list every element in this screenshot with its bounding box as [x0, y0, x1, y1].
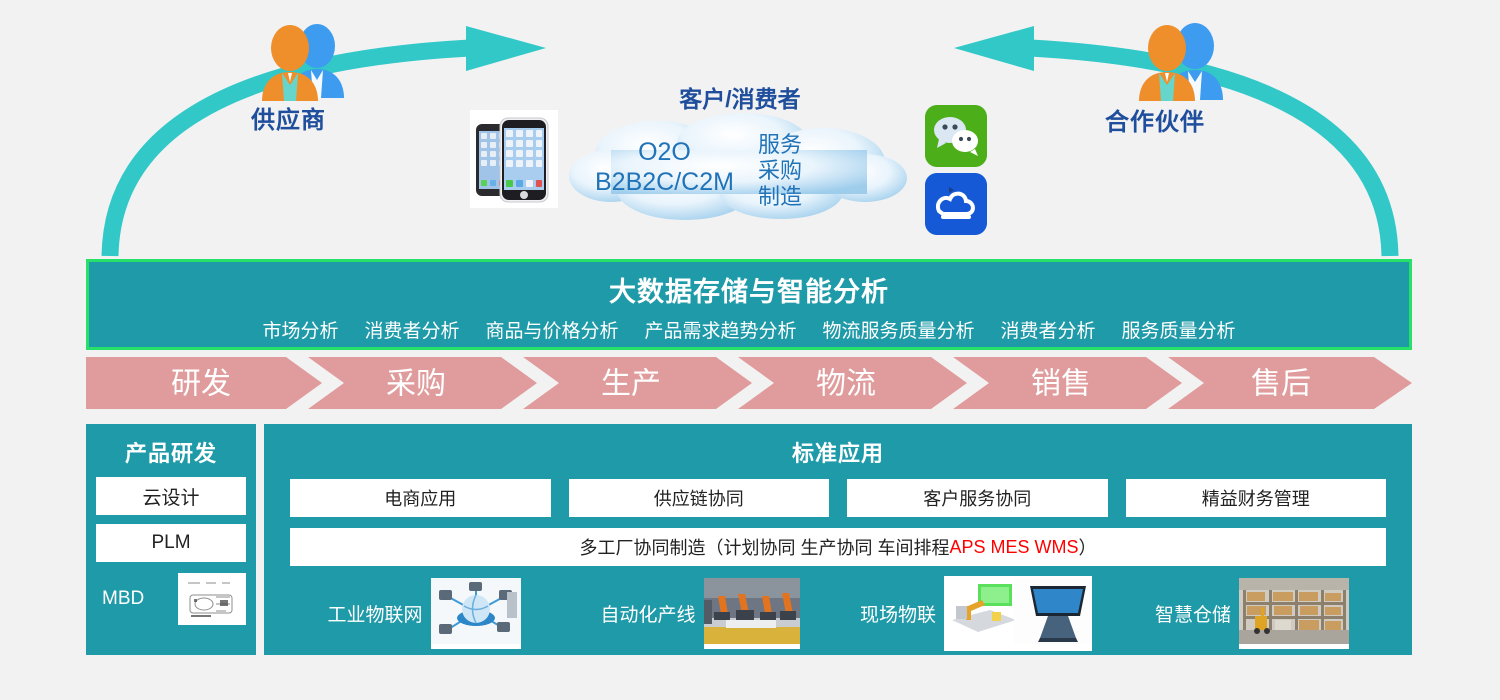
bigdata-tag: 市场分析 [262, 316, 338, 343]
diagram-canvas: 供应商 合作伙伴 [0, 0, 1500, 700]
iot-row: 工业物联网 [286, 578, 1390, 648]
iot-item-automation-line[interactable]: 自动化产线 [562, 578, 838, 649]
app-lean-finance[interactable]: 精益财务管理 [1126, 479, 1387, 517]
bigdata-tag-list: 市场分析 消费者分析 商品与价格分析 产品需求趋势分析 物流服务质量分析 消费者… [89, 316, 1409, 343]
robot-assembly-line-thumbnail [704, 578, 800, 649]
supplier-label: 供应商 [251, 100, 326, 135]
mfg-suffix-text: ） [1079, 534, 1097, 560]
bigdata-banner: 大数据存储与智能分析 市场分析 消费者分析 商品与价格分析 产品需求趋势分析 物… [86, 259, 1412, 350]
product-rd-panel: 产品研发 云设计 PLM MBD [86, 424, 256, 655]
rd-item-cloud-design[interactable]: 云设计 [96, 477, 246, 515]
bigdata-tag: 服务质量分析 [1122, 316, 1236, 343]
customer-title: 客户/消费者 [565, 80, 915, 114]
standard-apps-title: 标准应用 [264, 424, 1412, 468]
bigdata-tag: 产品需求趋势分析 [644, 316, 796, 343]
arrow-head-right-icon [466, 26, 546, 71]
mfg-systems-text: APS MES WMS [949, 537, 1078, 558]
mfg-prefix-text: 多工厂协同制造（计划协同 生产协同 车间排程 [579, 534, 949, 560]
bigdata-tag: 消费者分析 [1001, 316, 1096, 343]
cloud-service-text: 服务 采购 制造 [758, 132, 802, 210]
cloud-service-line: 服务 [758, 132, 802, 158]
app-supply-chain[interactable]: 供应链协同 [569, 479, 830, 517]
cloud-b2b2c-line: B2B2C/C2M [595, 168, 734, 198]
smartphones-image [470, 110, 558, 208]
app-customer-service[interactable]: 客户服务协同 [847, 479, 1108, 517]
arrow-head-left-icon [954, 26, 1034, 71]
standard-apps-row: 电商应用 供应链协同 客户服务协同 精益财务管理 [290, 479, 1386, 517]
cloud-procure-line: 采购 [758, 158, 802, 184]
partner-people-icon [1133, 22, 1233, 102]
workshop-kiosk-thumbnail [944, 576, 1092, 651]
process-step-label: 售后 [1251, 368, 1311, 401]
rd-item-plm[interactable]: PLM [96, 524, 246, 562]
cad-drawing-thumbnail [178, 573, 246, 625]
iot-label: 现场物联 [860, 600, 936, 627]
partner-label: 合作伙伴 [1105, 102, 1205, 137]
iot-item-industrial-iot[interactable]: 工业物联网 [286, 578, 562, 649]
process-step-label: 生产 [601, 368, 661, 401]
standard-apps-panel: 标准应用 电商应用 供应链协同 客户服务协同 精益财务管理 多工厂协同制造（计划… [264, 424, 1412, 655]
process-step-label: 销售 [1031, 368, 1091, 401]
rd-item-mbd[interactable]: MBD [96, 571, 246, 627]
supplier-people-icon [255, 22, 355, 102]
bigdata-tag: 物流服务质量分析 [823, 316, 975, 343]
product-rd-title: 产品研发 [86, 424, 256, 468]
iot-label: 工业物联网 [327, 600, 422, 627]
iot-item-smart-warehouse[interactable]: 智慧仓储 [1114, 578, 1390, 649]
iot-network-thumbnail [431, 578, 521, 649]
cloud-app-icon[interactable] [925, 173, 987, 235]
iot-label: 智慧仓储 [1155, 600, 1231, 627]
bigdata-tag: 消费者分析 [364, 316, 459, 343]
process-step-label: 物流 [816, 368, 876, 401]
multi-factory-bar[interactable]: 多工厂协同制造（计划协同 生产协同 车间排程 APS MES WMS ） [290, 528, 1386, 566]
iot-item-onsite-iot[interactable]: 现场物联 [838, 576, 1114, 651]
process-step-label: 采购 [386, 368, 446, 401]
bigdata-title: 大数据存储与智能分析 [89, 270, 1409, 309]
app-ecommerce[interactable]: 电商应用 [290, 479, 551, 517]
process-chevron-bar: 研发 采购 生产 物流 销售 售后 [86, 357, 1412, 409]
process-step-label: 研发 [171, 368, 231, 401]
bigdata-tag: 商品与价格分析 [485, 316, 618, 343]
mbd-label: MBD [96, 588, 144, 610]
warehouse-thumbnail [1239, 578, 1349, 649]
iot-label: 自动化产线 [600, 600, 695, 627]
cloud-manufacture-line: 制造 [758, 184, 802, 210]
cloud-o2o-line: O2O [595, 138, 734, 168]
cloud-model-text: O2O B2B2C/C2M [595, 138, 734, 197]
wechat-icon[interactable] [925, 105, 987, 167]
